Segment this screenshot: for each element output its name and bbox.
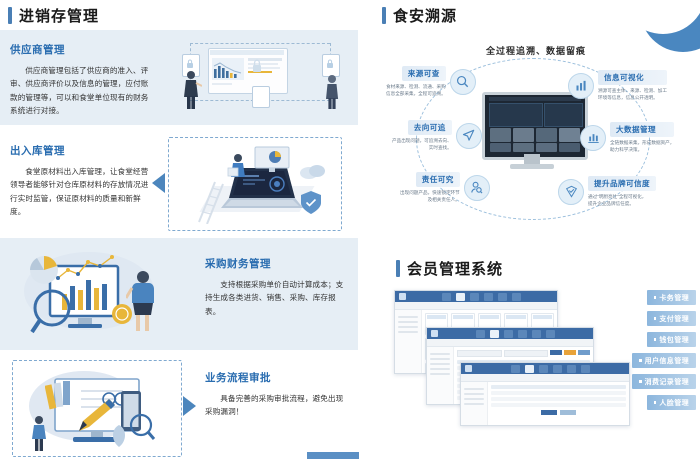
chip-payment-management[interactable]: 支付管理 [647,311,696,326]
tab-item-active [490,330,499,338]
purchase-finance-block: 采购财务管理 支持根据采购单价自动计算成本；支持生成各类进货、销售、采购、库存报… [0,238,358,350]
inventory-section-title: 进销存管理 [19,5,99,26]
member-screenshots [394,290,634,430]
trace-node-title: 责任可究 [416,172,460,187]
screenshot-content [488,382,629,426]
screenshot-tabs [441,330,589,338]
traceability-subtitle: 全过程追溯、数据留痕 [372,44,700,57]
heading-accent-bar [8,7,12,24]
chip-label: 卡务管理 [659,293,689,303]
inventory-section-heading: 进销存管理 [8,5,99,26]
warehouse-illustration-frame [168,137,342,231]
heading-accent-bar [396,260,400,277]
chip-label: 人脸管理 [659,398,689,408]
trace-node-title: 去向可追 [408,120,452,135]
screenshot-body [461,382,629,426]
tab-item [518,330,527,338]
chip-bullet-icon [639,359,642,362]
shield-check-icon [558,179,584,205]
tab-item [442,293,451,301]
warehouse-block-title: 出入库管理 [10,143,150,158]
app-logo-icon [431,330,438,337]
trace-node-title: 提升品牌可信度 [588,176,656,191]
trace-node-desc: 溯源可查主体、来源、检测、加工 环境等信息，信息公开透明。 [598,87,667,101]
monitor-stand-base [510,164,554,169]
tab-item-active [525,365,534,373]
trace-node-source-traceable[interactable]: 来源可查 食材来源、检测、流通、采购 信息全部采集，全程可追溯。 [386,66,476,97]
trace-node-desc: 通过"明厨亮灶"全程可视化， 提升企业品牌信任度。 [588,193,656,207]
send-icon [456,123,482,149]
trace-node-desc: 产品出现问题，可追溯去向、 实时查找。 [392,137,452,151]
approval-block: 业务流程审批 具备完善的采购审批流程，避免出现采购漏洞！ [0,350,358,470]
poster-page: 进销存管理 供应商管理 供应商管理包括了供应商的准入、评审、供应商评价以及信息的… [0,0,700,470]
approval-block-title: 业务流程审批 [205,370,345,385]
member-section-heading: 会员管理系统 [396,258,503,279]
chip-label: 消费记录管理 [645,377,689,387]
screenshot-breadcrumb [427,339,593,347]
chip-bullet-icon [654,338,657,341]
tab-item [470,293,479,301]
trace-node-desc: 出现问题产品，快速锁定环节 及相关责任人。 [400,189,460,203]
approval-arrow-icon [183,396,196,416]
warehouse-block-body: 食堂原材料出入库管理，让食堂经营领导者能够针对仓库原材料的存放情况进行实时监管，… [10,165,150,218]
screenshot-detail-view[interactable] [460,362,630,426]
chip-label: 用户信息管理 [645,356,689,366]
bar-chart-icon [568,73,594,99]
screenshot-tabs [409,293,553,301]
inventory-management-column: 进销存管理 供应商管理 供应商管理包括了供应商的准入、评审、供应商评价以及信息的… [0,0,358,470]
chip-bullet-icon [639,380,642,383]
tab-item [511,365,520,373]
warehouse-illustration [189,146,329,226]
monitor-stand-neck [524,154,540,164]
search-icon [450,69,476,95]
member-section-title: 会员管理系统 [407,258,503,279]
traceability-section-heading: 食安溯源 [382,5,457,26]
trace-node-title: 信息可视化 [598,70,667,85]
supplier-block: 供应商管理 供应商管理包括了供应商的准入、评审、供应商评价以及信息的管理，应付账… [0,30,358,125]
app-logo-icon [465,365,472,372]
tab-item [484,293,493,301]
screenshot-breadcrumb [395,302,557,310]
trace-node-desc: 食材来源、检测、流通、采购 信息全部采集，全程可追溯。 [386,83,446,97]
chip-bullet-icon [654,296,657,299]
warehouse-arrow-icon [152,173,165,193]
member-feature-chips: 卡务管理 支付管理 钱包管理 用户信息管理 消费记录管理 人脸管理 [632,290,696,410]
chip-bullet-icon [654,401,657,404]
screenshot-tabs [475,365,625,373]
supplier-block-body: 供应商管理包括了供应商的准入、评审、供应商评价以及信息的管理，应付账款的管理等，… [10,64,150,117]
tab-item [539,365,548,373]
supplier-illustration [172,38,352,118]
screenshot-sidebar [461,382,488,426]
app-logo-icon [399,293,406,300]
tab-item [581,365,590,373]
warehouse-block: 出入库管理 食堂原材料出入库管理，让食堂经营领导者能够针对仓库原材料的存放情况进… [0,125,358,238]
trace-node-title: 来源可查 [402,66,446,81]
purchase-finance-title: 采购财务管理 [205,256,345,271]
user-search-icon [464,175,490,201]
trace-node-visualization[interactable]: 信息可视化 溯源可查主体、来源、检测、加工 环境等信息，信息公开透明。 [568,70,667,101]
chip-bullet-icon [654,317,657,320]
approval-illustration [25,367,173,453]
tab-item [476,330,485,338]
tab-item-active [456,293,465,301]
chip-card-management[interactable]: 卡务管理 [647,290,696,305]
chip-user-info-management[interactable]: 用户信息管理 [632,353,696,368]
purchase-finance-body: 支持根据采购单价自动计算成本；支持生成各类进货、销售、采购、库存报表。 [205,278,345,318]
chip-wallet-management[interactable]: 钱包管理 [647,332,696,347]
trace-node-destination-traceable[interactable]: 去向可追 产品出现问题，可追溯去向、 实时查找。 [392,120,482,151]
screenshot-header [427,328,593,339]
supplier-block-title: 供应商管理 [10,42,150,57]
screenshot-sidebar [395,310,422,374]
traceability-section-title: 食安溯源 [393,5,457,26]
chip-label: 支付管理 [659,314,689,324]
tab-item [532,330,541,338]
tab-item [553,365,562,373]
chip-face-management[interactable]: 人脸管理 [647,395,696,410]
tab-item [512,293,521,301]
trace-node-title: 大数据管理 [610,122,674,137]
chip-consumption-record-management[interactable]: 消费记录管理 [632,374,696,389]
right-column: 食安溯源 全过程追溯、数据留痕 [372,0,700,470]
chip-label: 钱包管理 [659,335,689,345]
monitor-screen [482,92,588,160]
screenshot-header [395,291,557,302]
tab-item [504,330,513,338]
approval-illustration-frame [12,360,182,457]
bottom-accent-bar [307,452,359,459]
trace-node-accountability[interactable]: 责任可究 出现问题产品，快速锁定环节 及相关责任人。 [400,172,490,203]
heading-accent-bar [382,7,386,24]
screenshot-header [461,363,629,374]
data-icon [580,125,606,151]
trace-node-brand-trust[interactable]: 提升品牌可信度 通过"明厨亮灶"全程可视化， 提升企业品牌信任度。 [558,176,656,207]
screenshot-breadcrumb [461,374,629,382]
approval-block-body: 具备完善的采购审批流程，避免出现采购漏洞！ [205,392,345,419]
tab-item [498,293,507,301]
tab-item [546,330,555,338]
screenshot-sidebar [427,347,454,405]
tab-item [567,365,576,373]
trace-node-desc: 全链数据采集，形成数据资产， 助力科学决策。 [610,139,674,153]
purchase-finance-illustration [14,246,184,342]
trace-node-big-data[interactable]: 大数据管理 全链数据采集，形成数据资产， 助力科学决策。 [580,122,674,153]
